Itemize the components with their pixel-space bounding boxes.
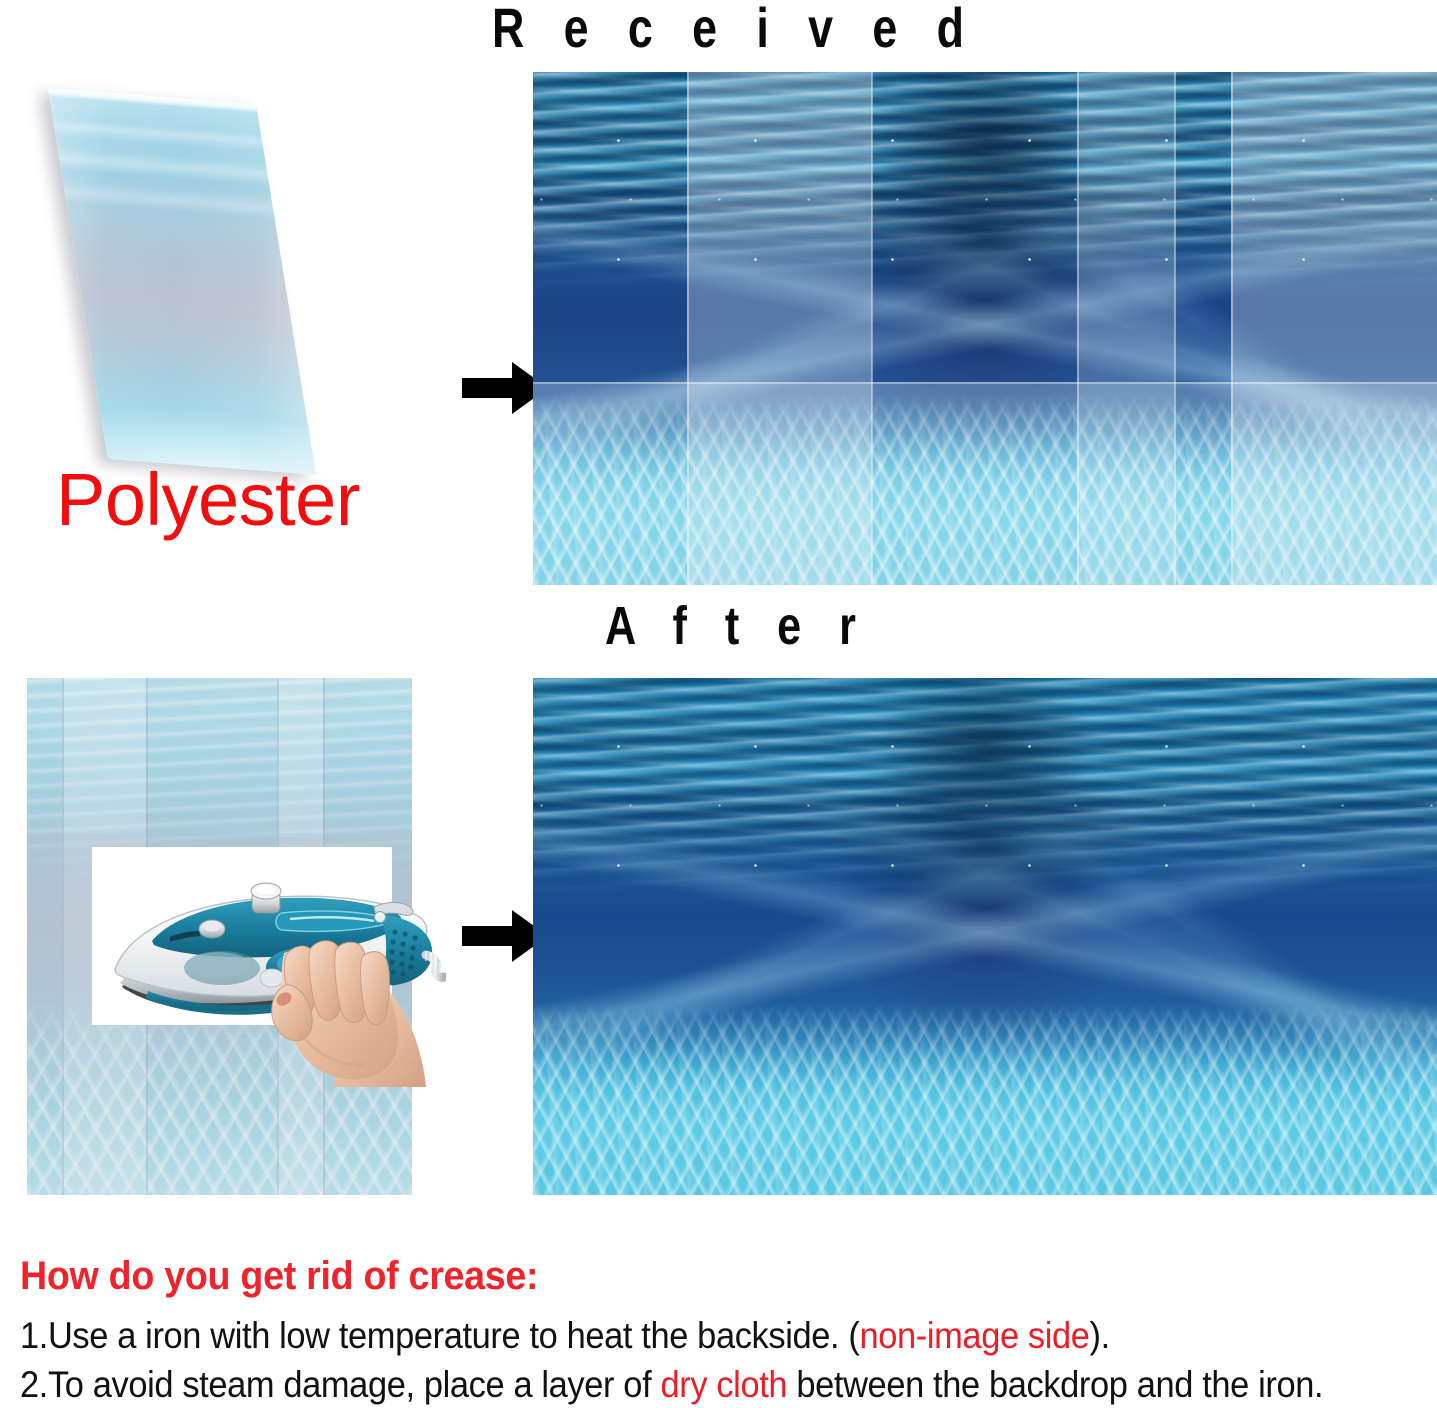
iron-knob-highlight xyxy=(203,921,221,932)
iron-steam-dial-highlight xyxy=(256,886,276,895)
care-line-1-highlight: non-image side xyxy=(859,1315,1089,1356)
iron-spray-button xyxy=(260,969,284,987)
vivid-color-boost xyxy=(533,678,1437,1195)
folded-fabric-image xyxy=(8,80,408,490)
page-title-received: R e c e i v e d xyxy=(492,0,977,58)
material-label-polyester: Polyester xyxy=(56,462,360,538)
fabric-sheen xyxy=(48,88,316,475)
care-line-2-suffix: between the backdrop and the iron. xyxy=(787,1364,1323,1405)
fabric-top-edge xyxy=(48,88,258,113)
after-backdrop-photo xyxy=(533,678,1437,1195)
iron-power-cord xyxy=(426,955,444,978)
iron-photo-cutout xyxy=(92,847,392,1025)
care-instructions-heading: How do you get rid of crease: xyxy=(20,1252,1345,1300)
received-backdrop-photo xyxy=(533,72,1437,585)
care-line-1-suffix: ). xyxy=(1090,1315,1110,1356)
care-instruction-item: 1.Use a iron with low temperature to hea… xyxy=(20,1312,1331,1359)
page-title-after: A f t e r xyxy=(605,597,869,655)
care-line-2-highlight: dry cloth xyxy=(660,1364,787,1405)
care-line-1-prefix: 1.Use a iron with low temperature to hea… xyxy=(20,1315,859,1356)
folded-fabric-sheet xyxy=(48,88,316,475)
iron-cord-clip-ring xyxy=(375,912,386,923)
care-instructions-block: How do you get rid of crease: 1.Use a ir… xyxy=(20,1252,1430,1408)
steam-iron-with-hand-icon xyxy=(86,837,446,1087)
seabed-caustics xyxy=(533,395,1437,585)
water-bubbles xyxy=(533,72,1437,354)
care-line-2-prefix: 2.To avoid steam damage, place a layer o… xyxy=(20,1364,660,1405)
iron-water-window-left-inner xyxy=(186,952,250,978)
